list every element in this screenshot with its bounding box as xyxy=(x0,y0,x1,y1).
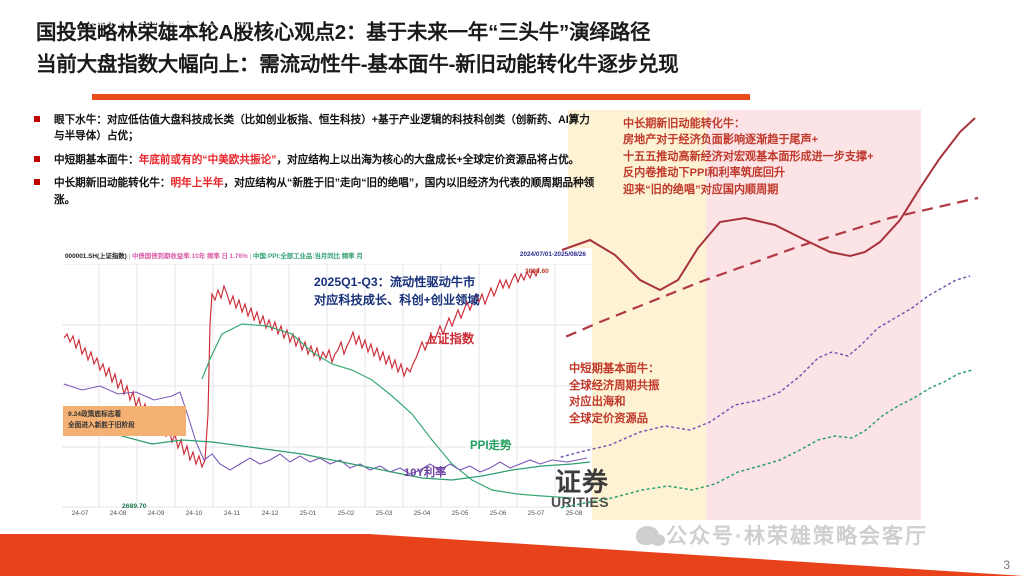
annotation-longterm-line-2: 房地产对于经济负面影响逐渐趋于尾声+ xyxy=(623,132,953,148)
key-point-3-seg-2: 明年上半年 xyxy=(171,177,224,189)
key-point-text-2: 中短期基本面牛：年底前或有的“中美欧共振论”，对应结构上以出海为核心的大盘成长+… xyxy=(54,152,595,168)
key-point-2: 中短期基本面牛：年底前或有的“中美欧共振论”，对应结构上以出海为核心的大盘成长+… xyxy=(30,152,595,168)
annotation-longterm-line-3: 十五五推动高新经济对宏观基本面形成进一步支撑+ xyxy=(623,149,953,165)
x-tick-25-03: 25-03 xyxy=(376,510,393,517)
legend-separator-2: | xyxy=(250,253,252,260)
chart-annotation-q1q3-line2: 对应科技成长、科创+创业领域 xyxy=(314,291,480,309)
key-point-1: 眼下水牛：对应低估值大盘科技成长类（比如创业板指、恒生科技）+基于产业逻辑的科技… xyxy=(30,112,595,145)
key-point-text-3: 中长期新旧动能转化牛：明年上半年，对应结构从“新胜于旧”走向“旧的绝唱”，国内以… xyxy=(54,175,595,208)
chart-value-peak: 3888.60 xyxy=(525,268,549,275)
annotation-longterm-line-4: 反内卷推动下PPI和利率筑底回升 xyxy=(623,165,953,181)
key-point-2-seg-2: 年底前或有的“中美欧共振论” xyxy=(139,154,277,166)
x-tick-25-07: 25-07 xyxy=(528,510,545,517)
footer-source-text: 数据来源：Wind，国投证券证券研究所 xyxy=(88,13,250,27)
chart-callout-policy-bottom: 9.24政策底标志着 全面进入新胜于旧阶段 xyxy=(63,406,186,436)
x-tick-25-04: 25-04 xyxy=(414,510,431,517)
x-tick-24-11: 24-11 xyxy=(224,510,240,517)
bullet-marker-icon xyxy=(34,179,40,185)
x-tick-25-02: 25-02 xyxy=(338,510,355,517)
x-tick-24-12: 24-12 xyxy=(262,510,279,517)
chart-legend-header: 000001.SH(上证指数) | 中债国债到期收益率:10年 频率 日 1.7… xyxy=(62,248,592,263)
chart-annotation-q1q3-line1: 2025Q1-Q3：流动性驱动牛市 xyxy=(314,273,480,291)
x-tick-24-10: 24-10 xyxy=(186,510,203,517)
key-point-1-seg-1: 眼下水牛：对应低估值大盘科技成长类（比如创业板指、恒生科技）+基于产业逻辑 xyxy=(54,114,442,126)
page-title-line-2: 当前大盘指数大幅向上：需流动性牛-基本面牛-新旧动能转化牛逐步兑现 xyxy=(36,50,679,79)
annotation-longterm: 中长期新旧动能转化牛：房地产对于经济负面影响逐渐趋于尾声+十五五推动高新经济对宏… xyxy=(623,116,953,198)
chart-callout-line2: 全面进入新胜于旧阶段 xyxy=(68,421,182,432)
legend-series-2: 中债国债到期收益率:10年 频率 日 1.76% xyxy=(132,253,248,260)
key-point-3: 中长期新旧动能转化牛：明年上半年，对应结构从“新胜于旧”走向“旧的绝唱”，国内以… xyxy=(30,175,595,208)
legend-series-3: 中国:PPI:全部工业品:当月同比 频率 月 xyxy=(253,253,363,260)
key-point-text-1: 眼下水牛：对应低估值大盘科技成长类（比如创业板指、恒生科技）+基于产业逻辑的科技… xyxy=(54,112,595,145)
x-tick-24-09: 24-09 xyxy=(148,510,165,517)
wechat-icon xyxy=(636,526,659,545)
chart-label-10y-rate: 10Y利率 xyxy=(404,464,446,480)
annotation-midterm-line-3: 对应出海和 xyxy=(569,394,769,411)
annotation-midterm-line-1: 中短期基本面牛： xyxy=(569,361,769,378)
legend-series-1: 000001.SH(上证指数) xyxy=(65,253,127,260)
chart-annotation-q1q3: 2025Q1-Q3：流动性驱动牛市 对应科技成长、科创+创业领域 xyxy=(314,273,480,310)
annotation-midterm-line-2: 全球经济周期共振 xyxy=(569,378,769,395)
x-tick-25-06: 25-06 xyxy=(490,510,507,517)
key-point-2-seg-3: ，对应结构上以出海为核心的大盘成长+全球定价资源品将占优。 xyxy=(276,154,579,166)
chart-value-trough: 2689.70 xyxy=(122,503,147,510)
legend-separator-1: | xyxy=(129,253,131,260)
key-point-2-seg-1: 中短期基本面牛： xyxy=(54,154,139,166)
chart-x-axis: 24-0724-0824-0924-1024-1124-1225-0125-02… xyxy=(62,510,592,524)
x-tick-24-07: 24-07 xyxy=(72,510,89,517)
key-point-3-seg-1: 中长期新旧动能转化牛： xyxy=(54,177,171,189)
bullet-marker-icon xyxy=(34,116,40,122)
chart-label-ppi: PPI走势 xyxy=(470,437,512,453)
annotation-midterm: 中短期基本面牛：全球经济周期共振对应出海和全球定价资源品 xyxy=(569,361,769,428)
x-tick-25-01: 25-01 xyxy=(300,510,317,517)
x-tick-25-05: 25-05 xyxy=(452,510,469,517)
chart-callout-line1: 9.24政策底标志着 xyxy=(68,410,182,421)
page-number: 3 xyxy=(1003,558,1010,572)
annotation-longterm-line-5: 迎来“旧的绝唱”对应国内顺周期 xyxy=(623,182,953,198)
annotation-longterm-line-1: 中长期新旧动能转化牛： xyxy=(623,116,953,132)
bottom-watermark-text: 公众号·林荣雄策略会客厅 xyxy=(666,520,928,550)
x-tick-24-08: 24-08 xyxy=(110,510,127,517)
annotation-midterm-line-4: 全球定价资源品 xyxy=(569,411,769,428)
bullet-marker-icon xyxy=(34,156,40,162)
bottom-watermark: 公众号·林荣雄策略会客厅 xyxy=(636,520,928,550)
chart-label-sz-index: 上证指数 xyxy=(425,329,474,347)
key-points-list: 眼下水牛：对应低估值大盘科技成长类（比如创业板指、恒生科技）+基于产业逻辑的科技… xyxy=(30,112,595,215)
